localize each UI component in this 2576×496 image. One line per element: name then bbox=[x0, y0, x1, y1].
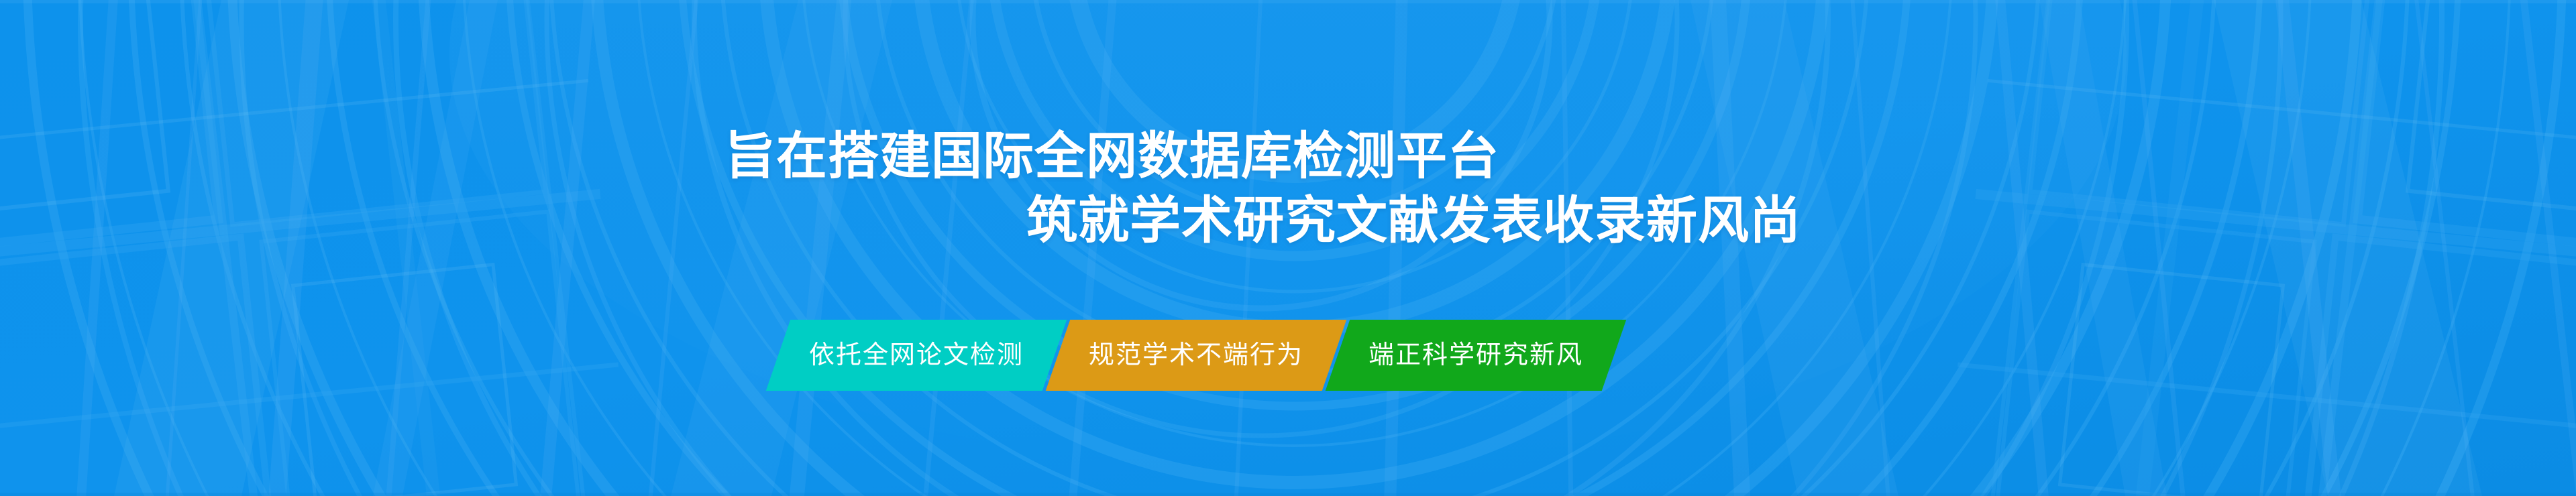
feature-tag-strip: 依托全网论文检测 规范学术不端行为 端正科学研究新风 bbox=[778, 320, 1614, 391]
feature-tag-1[interactable]: 规范学术不端行为 bbox=[1046, 320, 1346, 391]
feature-tag-0-label: 依托全网论文检测 bbox=[809, 320, 1024, 391]
headline-block: 旨在搭建国际全网数据库检测平台 筑就学术研究文献发表收录新风尚 bbox=[0, 125, 1805, 253]
feature-tag-2-label: 端正科学研究新风 bbox=[1368, 320, 1583, 391]
feature-tag-0[interactable]: 依托全网论文检测 bbox=[766, 320, 1067, 391]
promo-banner: 旨在搭建国际全网数据库检测平台 筑就学术研究文献发表收录新风尚 依托全网论文检测… bbox=[0, 0, 2576, 496]
headline-line-1: 旨在搭建国际全网数据库检测平台 bbox=[0, 125, 1805, 189]
headline-line-2: 筑就学术研究文献发表收录新风尚 bbox=[0, 189, 1805, 253]
feature-tag-1-label: 规范学术不端行为 bbox=[1089, 320, 1303, 391]
feature-tag-2[interactable]: 端正科学研究新风 bbox=[1326, 320, 1626, 391]
